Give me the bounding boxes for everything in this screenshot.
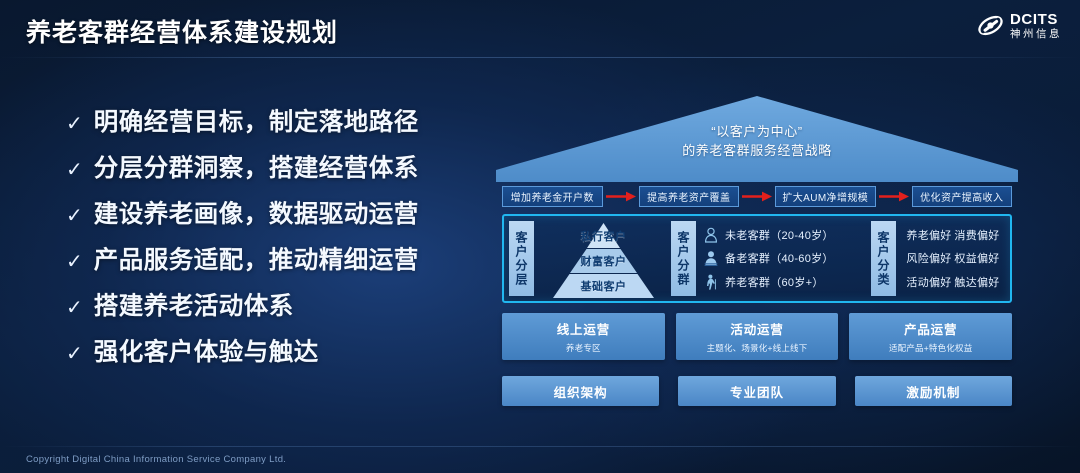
goal-chain: 增加养老金开户数 提高养老资产覆盖 扩大AUM净增规模 优化资产提高收入 — [502, 185, 1012, 207]
operation-card-activity[interactable]: 活动运营 主题化、场景化+线上线下 — [676, 313, 839, 360]
operation-card-title: 活动运营 — [730, 319, 783, 338]
preference-row: 活动偏好 触达偏好 — [905, 274, 1001, 290]
tier-row-1: 私行客户 — [541, 223, 666, 248]
roof-line-1: “以客户为中心” — [496, 123, 1018, 142]
list-item-label: 建设养老画像，数据驱动运营 — [94, 195, 419, 230]
list-item: ✓ 建设养老画像，数据驱动运营 — [66, 195, 476, 230]
diagram-roof: “以客户为中心” 的养老客群服务经营战略 — [496, 96, 1018, 182]
foundation-card-team[interactable]: 专业团队 — [678, 376, 835, 406]
preference-cell: 消费偏好 — [953, 227, 1001, 243]
dcits-swoosh-icon — [977, 12, 1004, 39]
footer-copyright: Copyright Digital China Information Serv… — [26, 454, 286, 465]
list-item-label: 强化客户体验与触达 — [94, 333, 319, 368]
preference-grid: 养老偏好 消费偏好 风险偏好 权益偏好 活动偏好 触达偏好 — [896, 220, 1005, 297]
list-item: ✓ 搭建养老活动体系 — [66, 287, 476, 322]
preference-cell: 触达偏好 — [953, 274, 1001, 290]
logo-text-en: DCITS — [1010, 12, 1062, 27]
tier-label-2: 财富客户 — [581, 253, 627, 269]
list-item: ✓ 产品服务适配，推动精细运营 — [66, 241, 476, 276]
tab-customer-segment[interactable]: 客户分群 — [671, 221, 696, 296]
operation-card-subtitle: 养老专区 — [566, 342, 601, 354]
list-item: ✓ 分层分群洞察，搭建经营体系 — [66, 149, 476, 184]
foundation-card-label: 激励机制 — [906, 382, 960, 401]
check-icon: ✓ — [66, 160, 83, 180]
goal-box-3[interactable]: 扩大AUM净增规模 — [775, 186, 876, 207]
list-item-label: 搭建养老活动体系 — [94, 287, 294, 322]
operation-card-product[interactable]: 产品运营 适配产品+特色化权益 — [849, 313, 1012, 360]
check-icon: ✓ — [66, 252, 83, 272]
segment-row: 未老客群（20-40岁） — [704, 227, 871, 243]
tier-label-1: 私行客户 — [581, 228, 627, 244]
tab-customer-segment-label: 客户分群 — [675, 231, 692, 287]
foundation-row: 组织架构 专业团队 激励机制 — [502, 376, 1012, 406]
check-icon: ✓ — [66, 298, 83, 318]
footer-divider — [0, 446, 1080, 447]
operation-card-subtitle: 适配产品+特色化权益 — [889, 342, 972, 354]
tier-row-3: 基础客户 — [541, 273, 666, 298]
preference-row: 养老偏好 消费偏好 — [905, 227, 1001, 243]
arrow-right-icon — [876, 186, 912, 207]
check-icon: ✓ — [66, 344, 83, 364]
list-item: ✓ 强化客户体验与触达 — [66, 333, 476, 368]
tab-customer-tier-label: 客户分层 — [513, 231, 530, 287]
segment-row: 养老客群（60岁+） — [704, 274, 871, 290]
page-title: 养老客群经营体系建设规划 — [26, 13, 338, 49]
goal-box-1[interactable]: 增加养老金开户数 — [502, 186, 603, 207]
brand-logo: DCITS 神州信息 — [977, 12, 1062, 40]
key-points-list: ✓ 明确经营目标，制定落地路径 ✓ 分层分群洞察，搭建经营体系 ✓ 建设养老画像… — [66, 103, 476, 379]
customer-tier-pyramid: 私行客户 财富客户 基础客户 — [534, 220, 671, 297]
arrow-right-icon — [739, 186, 775, 207]
tier-label-3: 基础客户 — [581, 278, 627, 294]
segment-row: 备老客群（40-60岁） — [704, 250, 871, 266]
customer-segment-list: 未老客群（20-40岁） 备老客群（40-60岁） 养老客群（60岁+） — [696, 220, 871, 297]
list-item-label: 分层分群洞察，搭建经营体系 — [94, 149, 419, 184]
foundation-card-org[interactable]: 组织架构 — [502, 376, 659, 406]
check-icon: ✓ — [66, 114, 83, 134]
segment-label: 养老客群（60岁+） — [725, 274, 824, 290]
preference-cell: 风险偏好 — [905, 250, 953, 266]
operation-card-title: 产品运营 — [904, 319, 957, 338]
arrow-right-icon — [603, 186, 639, 207]
operations-row: 线上运营 养老专区 活动运营 主题化、场景化+线上线下 产品运营 适配产品+特色… — [502, 313, 1012, 360]
goal-box-2[interactable]: 提高养老资产覆盖 — [639, 186, 740, 207]
logo-text-cn: 神州信息 — [1010, 29, 1062, 40]
strategy-diagram: “以客户为中心” 的养老客群服务经营战略 增加养老金开户数 提高养老资产覆盖 扩… — [496, 96, 1018, 426]
preference-cell: 养老偏好 — [905, 227, 953, 243]
list-item: ✓ 明确经营目标，制定落地路径 — [66, 103, 476, 138]
preference-row: 风险偏好 权益偏好 — [905, 250, 1001, 266]
goal-box-4[interactable]: 优化资产提高收入 — [912, 186, 1013, 207]
operation-card-online[interactable]: 线上运营 养老专区 — [502, 313, 665, 360]
page-header: 养老客群经营体系建设规划 DCITS 神州信息 — [0, 0, 1080, 58]
header-divider — [0, 57, 1080, 58]
foundation-card-label: 专业团队 — [730, 382, 784, 401]
roof-text: “以客户为中心” 的养老客群服务经营战略 — [496, 123, 1018, 161]
tab-customer-tier[interactable]: 客户分层 — [509, 221, 534, 296]
elderly-person-icon — [704, 274, 718, 290]
foundation-card-label: 组织架构 — [554, 382, 608, 401]
tier-row-2: 财富客户 — [541, 248, 666, 273]
adult-person-icon — [704, 250, 718, 266]
segment-label: 备老客群（40-60岁） — [725, 250, 834, 266]
operation-card-title: 线上运营 — [557, 319, 610, 338]
customer-core-panel: 客户分层 私行客户 财富客户 基础客户 客户分 — [502, 214, 1012, 303]
preference-cell: 权益偏好 — [953, 250, 1001, 266]
preference-cell: 活动偏好 — [905, 274, 953, 290]
operation-card-subtitle: 主题化、场景化+线上线下 — [707, 342, 808, 354]
young-person-icon — [704, 227, 718, 243]
roof-line-2: 的养老客群服务经营战略 — [496, 142, 1018, 161]
check-icon: ✓ — [66, 206, 83, 226]
tab-customer-category[interactable]: 客户分类 — [871, 221, 896, 296]
list-item-label: 明确经营目标，制定落地路径 — [94, 103, 419, 138]
tab-customer-category-label: 客户分类 — [875, 231, 892, 287]
segment-label: 未老客群（20-40岁） — [725, 227, 834, 243]
list-item-label: 产品服务适配，推动精细运营 — [94, 241, 419, 276]
foundation-card-incentive[interactable]: 激励机制 — [855, 376, 1012, 406]
